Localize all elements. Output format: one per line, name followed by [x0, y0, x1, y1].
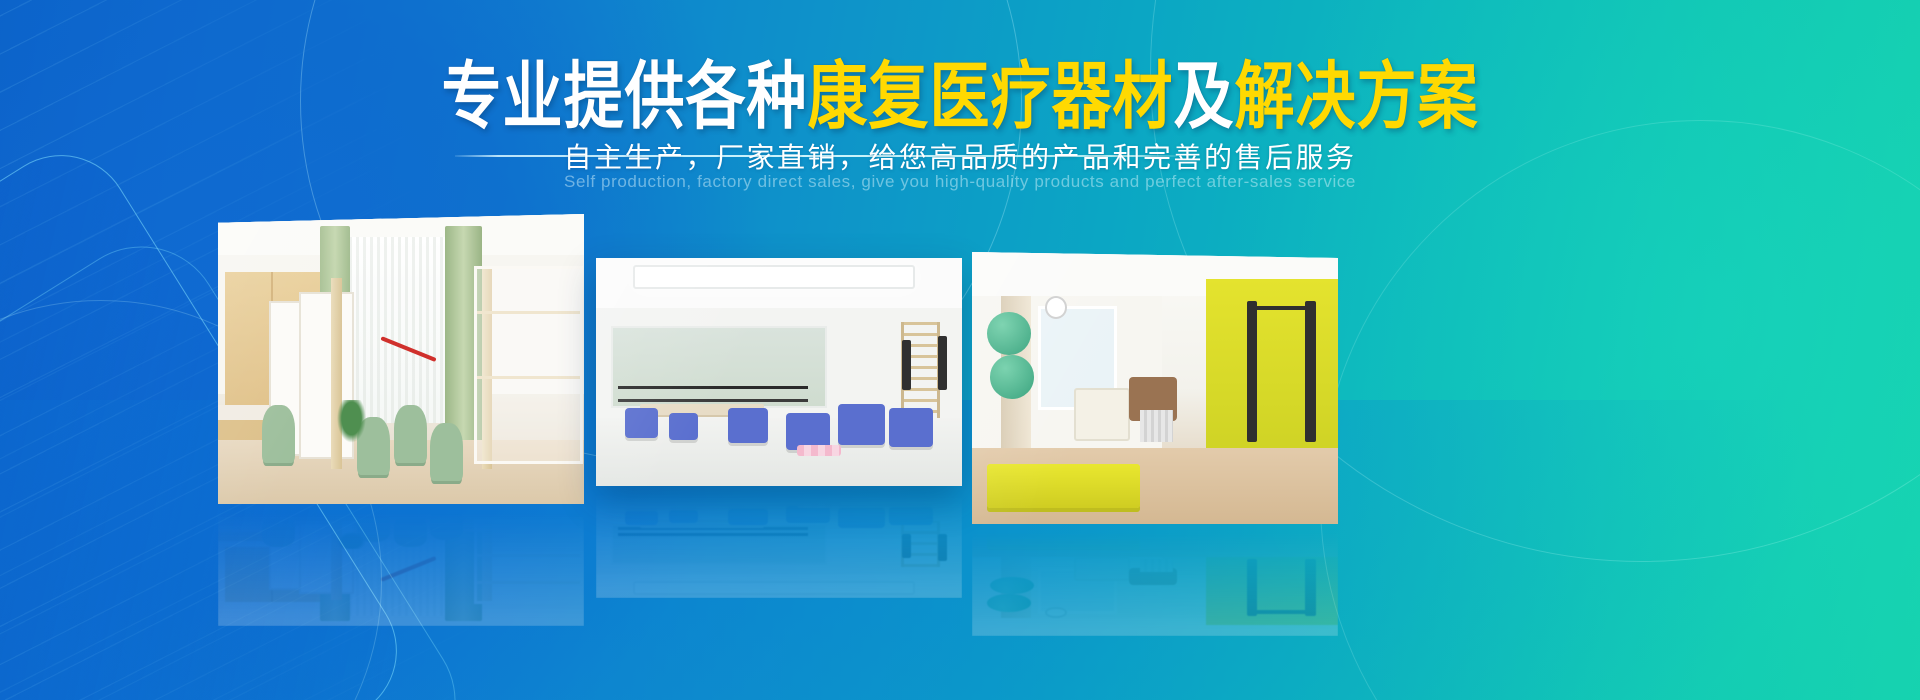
gallery-image-therapy-hall[interactable]	[596, 258, 962, 486]
gallery-image-gym-room[interactable]	[972, 252, 1338, 524]
headline-segment-2: 康复医疗器材	[808, 56, 1174, 138]
headline-segment-1: 专业提供各种	[442, 56, 808, 138]
headline-segment-3: 及	[1174, 56, 1235, 138]
subtitle-english: Self production, factory direct sales, g…	[0, 172, 1920, 192]
subtitle-chinese: 自主生产，厂家直销，给您高品质的产品和完善的售后服务	[0, 136, 1920, 176]
headline-segment-4: 解决方案	[1235, 56, 1479, 138]
gallery-image-rehabilitation-training-room[interactable]	[218, 214, 584, 504]
headline-wrap: 专业提供各种康复医疗器材及解决方案	[0, 58, 1920, 122]
page-title: 专业提供各种康复医疗器材及解决方案	[442, 58, 1479, 136]
promo-banner: 专业提供各种康复医疗器材及解决方案 自主生产，厂家直销，给您高品质的产品和完善的…	[0, 0, 1920, 700]
